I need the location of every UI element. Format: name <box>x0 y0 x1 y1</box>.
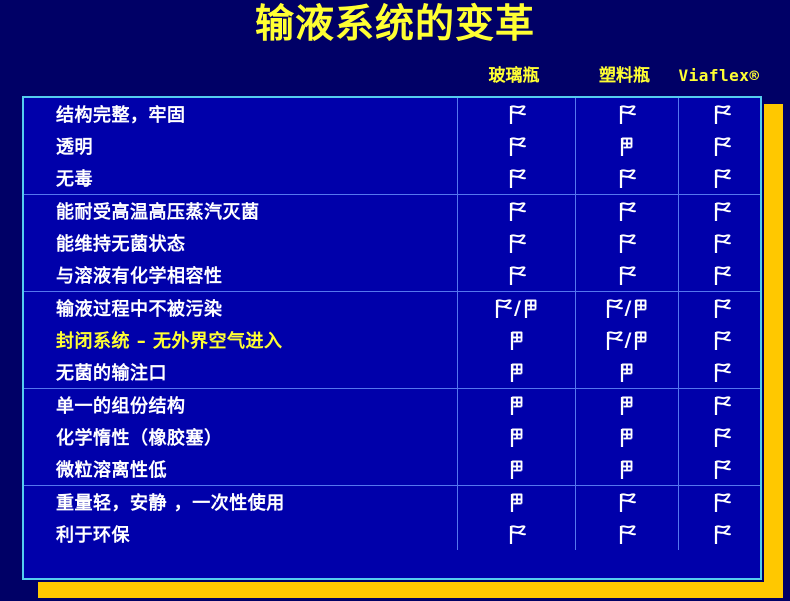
mark-cell <box>678 227 764 259</box>
feature-label: 微粒溶离性低 <box>24 456 457 482</box>
mark-cell <box>575 486 678 518</box>
table-row: 无菌的输注口 <box>24 356 760 388</box>
table-row: 利于环保 <box>24 518 760 550</box>
check-flag-icon <box>712 491 732 513</box>
feature-label: 单一的组份结构 <box>24 392 457 418</box>
cross-flag-icon <box>618 135 636 157</box>
comparison-table: 结构完整，牢固透明无毒能耐受高温高压蒸汽灭菌能维持无菌状态与溶液有化学相容性输液… <box>22 96 762 580</box>
mark-cell <box>457 324 575 356</box>
feature-label: 能维持无菌状态 <box>24 230 457 256</box>
mark-cell <box>678 162 764 194</box>
table-row: 封闭系统 – 无外界空气进入/ <box>24 324 760 356</box>
cross-flag-icon <box>508 361 526 383</box>
check-flag-icon <box>712 167 732 189</box>
feature-label: 无毒 <box>24 165 457 191</box>
check-flag-icon <box>507 167 527 189</box>
slide-canvas: 输液系统的变革 玻璃瓶 塑料瓶 Viaflex® 结构完整，牢固透明无毒能耐受高… <box>0 0 790 601</box>
feature-label: 重量轻，安静 ，一次性使用 <box>24 489 457 515</box>
cross-flag-icon <box>508 426 526 448</box>
mark-cell <box>678 259 764 291</box>
mark-cell <box>457 518 575 550</box>
mark-cell <box>678 292 764 324</box>
cross-flag-icon <box>632 297 650 319</box>
check-flag-icon <box>507 135 527 157</box>
mark-cell <box>678 356 764 388</box>
feature-label: 化学惰性（橡胶塞） <box>24 424 457 450</box>
mark-cell <box>575 162 678 194</box>
mark-cell <box>678 130 764 162</box>
feature-label: 输液过程中不被污染 <box>24 295 457 321</box>
mark-cell: / <box>457 292 575 324</box>
mark-cell <box>457 356 575 388</box>
check-flag-icon <box>712 329 732 351</box>
table-group: 输液过程中不被污染//封闭系统 – 无外界空气进入/无菌的输注口 <box>24 292 760 389</box>
check-flag-icon <box>712 232 732 254</box>
mark-separator: / <box>624 299 633 318</box>
check-flag-icon <box>617 264 637 286</box>
check-flag-icon <box>712 458 732 480</box>
mark-cell <box>575 453 678 485</box>
mark-cell <box>575 356 678 388</box>
cross-flag-icon <box>618 426 636 448</box>
check-flag-icon <box>507 232 527 254</box>
mark-cell <box>678 195 764 227</box>
mark-cell <box>575 195 678 227</box>
mark-cell <box>678 421 764 453</box>
mark-cell <box>457 421 575 453</box>
column-header-plastic: 塑料瓶 <box>573 63 676 91</box>
mark-separator: / <box>513 299 522 318</box>
check-flag-icon <box>617 103 637 125</box>
table-row: 单一的组份结构 <box>24 389 760 421</box>
mark-cell <box>678 486 764 518</box>
check-flag-icon <box>712 426 732 448</box>
mark-cell <box>575 130 678 162</box>
check-flag-icon <box>507 523 527 545</box>
check-flag-icon <box>507 264 527 286</box>
column-header-viaflex: Viaflex® <box>676 63 762 91</box>
mark-cell <box>457 130 575 162</box>
mark-cell <box>678 453 764 485</box>
check-flag-icon <box>712 361 732 383</box>
table-group: 单一的组份结构化学惰性（橡胶塞）微粒溶离性低 <box>24 389 760 486</box>
feature-label: 能耐受高温高压蒸汽灭菌 <box>24 198 457 224</box>
table-row: 能维持无菌状态 <box>24 227 760 259</box>
feature-label: 结构完整，牢固 <box>24 101 457 127</box>
column-header-glass: 玻璃瓶 <box>455 63 573 91</box>
feature-label: 透明 <box>24 133 457 159</box>
mark-cell <box>575 98 678 130</box>
table-group: 能耐受高温高压蒸汽灭菌能维持无菌状态与溶液有化学相容性 <box>24 195 760 292</box>
cross-flag-icon <box>618 458 636 480</box>
feature-label: 与溶液有化学相容性 <box>24 262 457 288</box>
table-row: 化学惰性（橡胶塞） <box>24 421 760 453</box>
table-row: 重量轻，安静 ，一次性使用 <box>24 486 760 518</box>
cross-flag-icon <box>508 394 526 416</box>
check-flag-icon <box>617 232 637 254</box>
mark-cell <box>457 453 575 485</box>
slide-shadow-right <box>764 104 783 590</box>
check-flag-icon <box>604 329 624 351</box>
check-flag-icon <box>617 523 637 545</box>
check-flag-icon <box>712 297 732 319</box>
check-flag-icon <box>493 297 513 319</box>
table-group: 重量轻，安静 ，一次性使用利于环保 <box>24 486 760 550</box>
feature-label: 封闭系统 – 无外界空气进入 <box>24 327 457 353</box>
table-column-headers: 玻璃瓶 塑料瓶 Viaflex® <box>455 63 762 91</box>
mark-cell <box>678 324 764 356</box>
mark-cell <box>575 518 678 550</box>
table-row: 与溶液有化学相容性 <box>24 259 760 291</box>
slide-shadow-bottom <box>38 582 783 598</box>
mark-separator: / <box>624 331 633 350</box>
check-flag-icon <box>507 200 527 222</box>
mark-cell <box>457 389 575 421</box>
check-flag-icon <box>617 200 637 222</box>
mark-cell: / <box>575 292 678 324</box>
check-flag-icon <box>712 135 732 157</box>
mark-cell <box>575 389 678 421</box>
check-flag-icon <box>617 167 637 189</box>
cross-flag-icon <box>522 297 540 319</box>
check-flag-icon <box>507 103 527 125</box>
check-flag-icon <box>617 491 637 513</box>
mark-cell <box>457 227 575 259</box>
check-flag-icon <box>712 103 732 125</box>
table-row: 能耐受高温高压蒸汽灭菌 <box>24 195 760 227</box>
feature-label: 无菌的输注口 <box>24 359 457 385</box>
check-flag-icon <box>604 297 624 319</box>
table-row: 透明 <box>24 130 760 162</box>
cross-flag-icon <box>632 329 650 351</box>
mark-cell <box>678 98 764 130</box>
mark-cell <box>457 162 575 194</box>
feature-label: 利于环保 <box>24 521 457 547</box>
page-title: 输液系统的变革 <box>0 2 790 48</box>
cross-flag-icon <box>508 491 526 513</box>
table-group: 结构完整，牢固透明无毒 <box>24 98 760 195</box>
table-row: 无毒 <box>24 162 760 194</box>
mark-cell <box>457 259 575 291</box>
table-row: 结构完整，牢固 <box>24 98 760 130</box>
mark-cell <box>678 518 764 550</box>
cross-flag-icon <box>618 361 636 383</box>
mark-cell <box>678 389 764 421</box>
mark-cell <box>457 98 575 130</box>
mark-cell <box>575 259 678 291</box>
mark-cell <box>457 486 575 518</box>
check-flag-icon <box>712 523 732 545</box>
mark-cell <box>575 421 678 453</box>
cross-flag-icon <box>618 394 636 416</box>
cross-flag-icon <box>508 329 526 351</box>
table-row: 微粒溶离性低 <box>24 453 760 485</box>
check-flag-icon <box>712 200 732 222</box>
check-flag-icon <box>712 394 732 416</box>
table-row: 输液过程中不被污染// <box>24 292 760 324</box>
mark-cell: / <box>575 324 678 356</box>
cross-flag-icon <box>508 458 526 480</box>
mark-cell <box>575 227 678 259</box>
mark-cell <box>457 195 575 227</box>
check-flag-icon <box>712 264 732 286</box>
